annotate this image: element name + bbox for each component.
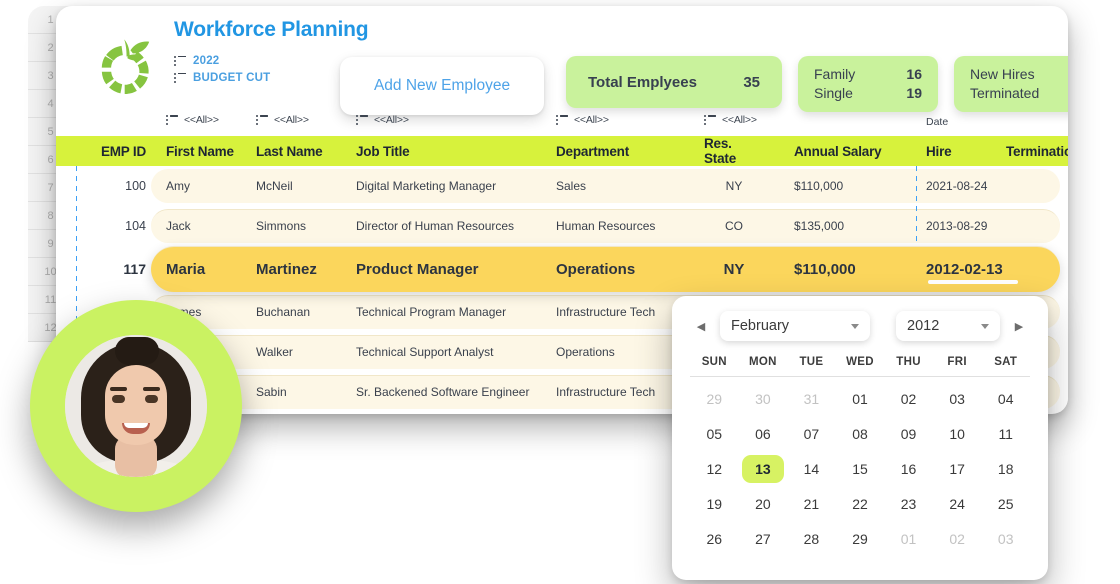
list-icon [356,115,368,125]
calendar-day[interactable]: 06 [739,416,788,451]
kpi-hires-terminated[interactable]: New Hires 1 Terminated 2 [954,56,1068,112]
calendar-day-selected[interactable]: 13 [739,451,788,486]
cell-job[interactable]: Sr. Backened Software Engineer [356,372,556,412]
cell-last[interactable]: Buchanan [256,292,346,332]
calendar-day[interactable]: 10 [933,416,982,451]
calendar-day[interactable]: 09 [884,416,933,451]
calendar-day[interactable]: 11 [981,416,1030,451]
calendar-day[interactable]: 27 [739,521,788,556]
kpi-single-value: 19 [906,84,922,103]
calendar-day[interactable]: 04 [981,381,1030,416]
orange-ring-logo [86,30,164,108]
calendar-day[interactable]: 15 [836,451,885,486]
column-filter-res-state[interactable]: <<All>> [704,114,757,126]
table-header-row: EMP IDFirst NameLast NameJob TitleDepart… [56,136,1068,166]
tag-year-label: 2022 [193,55,219,67]
calendar-day[interactable]: 30 [739,381,788,416]
kpi-new-hires-label: New Hires [970,65,1035,84]
column-header-emp_id[interactable]: EMP ID [76,136,146,166]
add-new-employee-button[interactable]: Add New Employee [340,57,544,115]
calendar-day[interactable]: 14 [787,451,836,486]
kpi-single-label: Single [814,84,853,103]
list-icon [166,115,178,125]
list-icon [704,115,716,125]
active-date-underline [928,280,1018,284]
calendar-day[interactable]: 02 [884,381,933,416]
cell-salary[interactable]: $110,000 [794,166,894,206]
calendar-day[interactable]: 19 [690,486,739,521]
calendar-day[interactable]: 26 [690,521,739,556]
cell-last[interactable]: Walker [256,332,346,372]
calendar-day[interactable]: 08 [836,416,885,451]
column-filter-last-name[interactable]: <<All>> [256,114,309,126]
cell-last[interactable]: McNeil [256,166,346,206]
cell-dept[interactable]: Sales [556,166,696,206]
kpi-new-hires-row: New Hires 1 [970,65,1068,84]
tag-budget-cut-label: BUDGET CUT [193,72,270,84]
card-header: Workforce Planning 2022 BUDGET CUT Add N… [56,6,1068,114]
column-filter-first-name[interactable]: <<All>> [166,114,219,126]
employee-avatar[interactable] [30,300,242,512]
cell-job[interactable]: Technical Program Manager [356,292,556,332]
weekday-mon: MON [739,356,788,368]
cell-salary[interactable]: $110,000 [794,246,894,292]
cell-job[interactable]: Digital Marketing Manager [356,166,556,206]
calendar-day[interactable]: 01 [836,381,885,416]
tagline-group: 2022 BUDGET CUT [174,52,270,86]
weekday-sun: SUN [690,356,739,368]
tag-year[interactable]: 2022 [174,52,270,69]
column-header-dept[interactable]: Department [556,136,696,166]
calendar-weekday-header: SUNMONTUEWEDTHUFRISAT [690,356,1030,377]
kpi-total-label: Total Emplyees [588,74,697,91]
calendar-day[interactable]: 29 [836,521,885,556]
cell-dept[interactable]: Operations [556,246,696,292]
prev-month-arrow-icon[interactable]: ◀ [690,315,712,337]
column-header-first[interactable]: First Name [166,136,252,166]
chevron-down-icon [851,324,859,329]
screenshot-root: 123456789101112 Workf [0,0,1120,584]
column-filter-value: <<All>> [274,114,309,126]
weekday-tue: TUE [787,356,836,368]
table-row-active[interactable]: 117MariaMartinezProduct ManagerOperation… [56,246,1068,292]
cell-job[interactable]: Technical Support Analyst [356,332,556,372]
avatar-photo [65,335,207,477]
date-column-label: Date [926,116,948,128]
year-select[interactable]: 2012 [896,311,1000,341]
calendar-day[interactable]: 07 [787,416,836,451]
kpi-total-employees[interactable]: Total Emplyees 35 [566,56,782,108]
column-header-last[interactable]: Last Name [256,136,346,166]
page-title: Workforce Planning [174,18,368,42]
cell-emp_id[interactable]: 100 [76,166,146,206]
kpi-family-value: 16 [906,65,922,84]
cell-first[interactable]: Amy [166,166,252,206]
calendar-day[interactable]: 17 [933,451,982,486]
next-month-arrow-icon[interactable]: ▶ [1008,315,1030,337]
calendar-day[interactable]: 21 [787,486,836,521]
kpi-family-row: Family 16 [814,65,922,84]
calendar-day[interactable]: 16 [884,451,933,486]
column-header-state[interactable]: Res. State [704,136,764,166]
column-filter-value: <<All>> [722,114,757,126]
calendar-day[interactable]: 12 [690,451,739,486]
kpi-family-single[interactable]: Family 16 Single 19 [798,56,938,112]
year-value: 2012 [907,318,939,334]
column-header-hire[interactable]: Hire [926,136,1018,166]
calendar-day[interactable]: 02 [933,521,982,556]
calendar-day[interactable]: 25 [981,486,1030,521]
cell-hire[interactable]: 2013-08-29 [926,206,1018,246]
weekday-thu: THU [884,356,933,368]
column-filter-value: <<All>> [184,114,219,126]
month-select[interactable]: February [720,311,870,341]
calendar-day[interactable]: 31 [787,381,836,416]
weekday-fri: FRI [933,356,982,368]
cell-first[interactable]: Jack [166,206,252,246]
calendar-day-grid: 2930310102030405060708091011121314151617… [690,381,1030,556]
calendar-day[interactable]: 18 [981,451,1030,486]
cell-first[interactable]: Maria [166,246,252,292]
calendar-day[interactable]: 01 [884,521,933,556]
column-header-term[interactable]: Termination [1006,136,1068,166]
list-icon [174,73,186,83]
calendar-day[interactable]: 03 [933,381,982,416]
column-filter-job-title[interactable]: <<All>> [356,114,409,126]
weekday-wed: WED [836,356,885,368]
calendar-day[interactable]: 28 [787,521,836,556]
tag-budget-cut[interactable]: BUDGET CUT [174,69,270,86]
date-picker-popup[interactable]: ◀ February 2012 ▶ SUNMONTUEWEDTHUFRISAT … [672,296,1048,580]
cell-emp_id[interactable]: 117 [76,246,146,292]
cell-last[interactable]: Martinez [256,246,346,292]
list-icon [174,56,186,66]
kpi-terminated-label: Terminated [970,84,1039,103]
calendar-day[interactable]: 20 [739,486,788,521]
calendar-day[interactable]: 24 [933,486,982,521]
cell-state[interactable]: NY [704,246,764,292]
column-filter-department[interactable]: <<All>> [556,114,609,126]
weekday-sat: SAT [981,356,1030,368]
cell-job[interactable]: Director of Human Resources [356,206,556,246]
kpi-family-label: Family [814,65,855,84]
calendar-day[interactable]: 29 [690,381,739,416]
cell-last[interactable]: Simmons [256,206,346,246]
kpi-total-value: 35 [743,74,760,91]
calendar-day[interactable]: 03 [981,521,1030,556]
calendar-day[interactable]: 22 [836,486,885,521]
column-filter-value: <<All>> [574,114,609,126]
column-header-job[interactable]: Job Title [356,136,556,166]
cell-hire[interactable]: 2021-08-24 [926,166,1018,206]
list-icon [556,115,568,125]
cell-hire[interactable]: 2012-02-13 [926,246,1018,292]
cell-state[interactable]: NY [704,166,764,206]
column-filter-value: <<All>> [374,114,409,126]
column-header-salary[interactable]: Annual Salary [794,136,894,166]
kpi-single-row: Single 19 [814,84,922,103]
cell-dept[interactable]: Human Resources [556,206,696,246]
cell-emp_id[interactable]: 104 [76,206,146,246]
cell-salary[interactable]: $135,000 [794,206,894,246]
calendar-day[interactable]: 05 [690,416,739,451]
kpi-terminated-row: Terminated 2 [970,84,1068,103]
column-filter-strip: <<All>><<All>><<All>><<All>><<All>>Date [56,114,1068,136]
cell-state[interactable]: CO [704,206,764,246]
cell-last[interactable]: Sabin [256,372,346,412]
calendar-nav: ◀ February 2012 ▶ [690,310,1030,342]
cell-job[interactable]: Product Manager [356,246,556,292]
chevron-down-icon [981,324,989,329]
month-value: February [731,318,789,334]
calendar-day[interactable]: 23 [884,486,933,521]
list-icon [256,115,268,125]
